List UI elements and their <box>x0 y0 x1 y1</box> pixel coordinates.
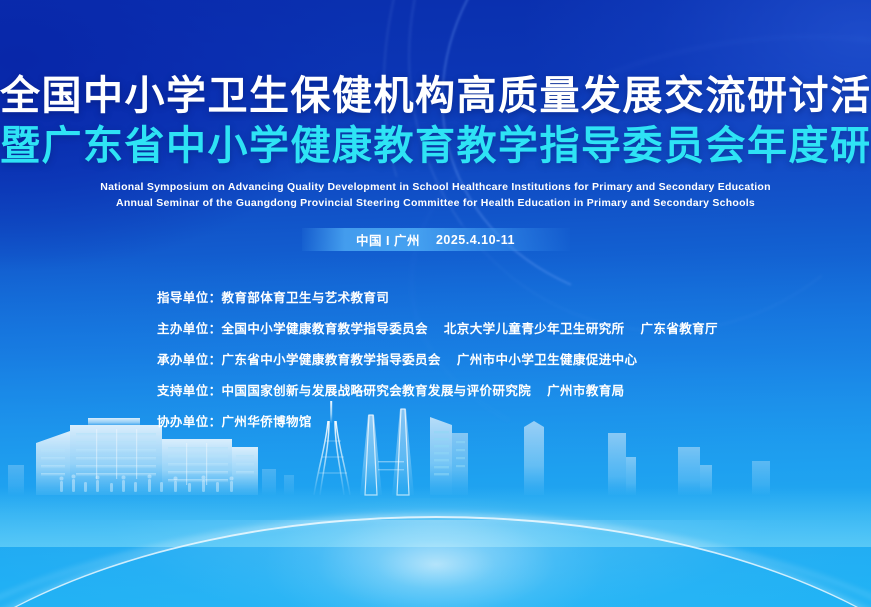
organization-values: 全国中小学健康教育教学指导委员会 北京大学儿童青少年卫生研究所 广东省教育厅 <box>222 318 718 337</box>
badge-location: 中国 I 广州 <box>356 230 420 249</box>
poster-english-subtitle-block: National Symposium on Advancing Quality … <box>0 179 871 211</box>
organization-value: 广东省中小学健康教育教学指导委员会 <box>222 349 441 368</box>
organization-values: 广东省中小学健康教育教学指导委员会 广州市中小学卫生健康促进中心 <box>222 349 638 368</box>
poster-title-line-2: 暨广东省中小学健康教育教学指导委员会年度研讨活动 <box>0 126 871 166</box>
organizations-list: 指导单位： 教育部体育卫生与艺术教育司 主办单位： 全国中小学健康教育教学指导委… <box>157 287 718 442</box>
organization-label: 协办单位： <box>157 411 222 430</box>
organization-row: 主办单位： 全国中小学健康教育教学指导委员会 北京大学儿童青少年卫生研究所 广东… <box>157 318 718 337</box>
location-date-badge: 中国 I 广州 2025.4.10-11 <box>302 228 570 251</box>
organization-label: 承办单位： <box>157 349 222 368</box>
organization-row: 承办单位： 广东省中小学健康教育教学指导委员会 广州市中小学卫生健康促进中心 <box>157 349 718 368</box>
badge-date: 2025.4.10-11 <box>436 233 515 247</box>
english-subtitle-line-2: Annual Seminar of the Guangdong Provinci… <box>0 195 871 211</box>
organization-row: 协办单位： 广州华侨博物馆 <box>157 411 718 430</box>
organization-row: 指导单位： 教育部体育卫生与艺术教育司 <box>157 287 718 306</box>
organization-value: 广州市教育局 <box>547 380 624 399</box>
organization-label: 指导单位： <box>157 287 222 306</box>
english-subtitle-line-1: National Symposium on Advancing Quality … <box>0 179 871 195</box>
organization-value: 广州市中小学卫生健康促进中心 <box>457 349 638 368</box>
organization-value: 教育部体育卫生与艺术教育司 <box>222 287 390 306</box>
organization-values: 中国国家创新与发展战略研究会教育发展与评价研究院 广州市教育局 <box>222 380 625 399</box>
organization-values: 教育部体育卫生与艺术教育司 <box>222 287 390 306</box>
organization-values: 广州华侨博物馆 <box>222 411 312 430</box>
poster-title-block: 全国中小学卫生保健机构高质量发展交流研讨活动 暨广东省中小学健康教育教学指导委员… <box>0 76 871 166</box>
organization-label: 支持单位： <box>157 380 222 399</box>
organization-value: 全国中小学健康教育教学指导委员会 <box>222 318 428 337</box>
organization-value: 中国国家创新与发展战略研究会教育发展与评价研究院 <box>222 380 532 399</box>
poster-title-line-1: 全国中小学卫生保健机构高质量发展交流研讨活动 <box>0 76 871 116</box>
organization-value: 北京大学儿童青少年卫生研究所 <box>444 318 625 337</box>
organization-label: 主办单位： <box>157 318 222 337</box>
conference-poster: 全国中小学卫生保健机构高质量发展交流研讨活动 暨广东省中小学健康教育教学指导委员… <box>0 0 871 607</box>
organization-value: 广州华侨博物馆 <box>222 411 312 430</box>
organization-value: 广东省教育厅 <box>641 318 718 337</box>
organization-row: 支持单位： 中国国家创新与发展战略研究会教育发展与评价研究院 广州市教育局 <box>157 380 718 399</box>
poster-content: 全国中小学卫生保健机构高质量发展交流研讨活动 暨广东省中小学健康教育教学指导委员… <box>0 0 871 607</box>
